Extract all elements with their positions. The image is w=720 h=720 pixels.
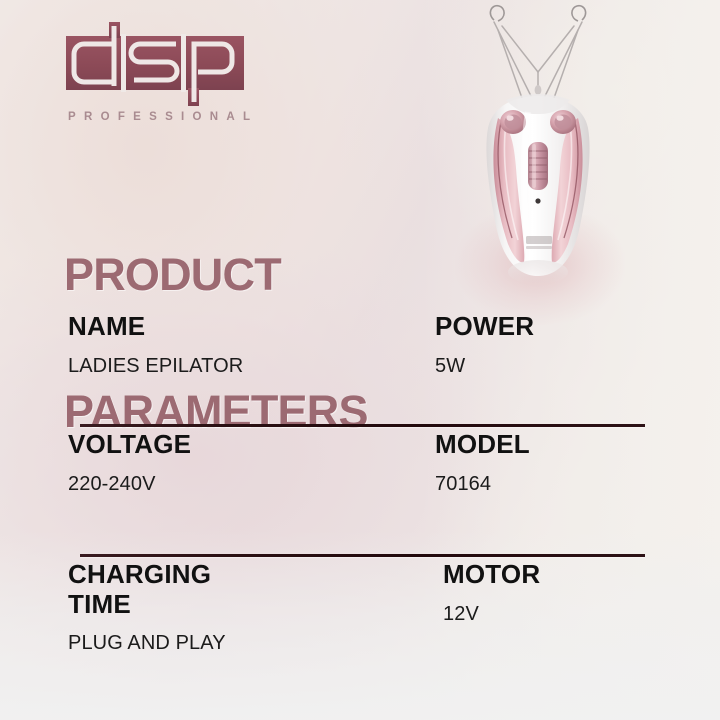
spec-label: VOLTAGE — [68, 430, 191, 460]
spec-cell-charging-time: CHARGING TIME PLUG AND PLAY — [68, 560, 226, 655]
spec-cell-motor: MOTOR 12V — [443, 560, 540, 626]
spec-value: 12V — [443, 603, 540, 626]
spec-cell-name: NAME LADIES EPILATOR — [68, 312, 243, 378]
table-row: VOLTAGE 220-240V MODEL 70164 — [0, 430, 720, 560]
row-divider — [80, 424, 645, 427]
spec-value: 5W — [435, 355, 534, 378]
spec-label: MODEL — [435, 430, 530, 460]
spec-cell-power: POWER 5W — [435, 312, 534, 378]
spec-table: NAME LADIES EPILATOR POWER 5W VOLTAGE 22… — [0, 312, 720, 710]
brand-logo: PROFESSIONAL — [62, 22, 262, 123]
spec-value: 70164 — [435, 473, 530, 496]
spec-label: POWER — [435, 312, 534, 342]
table-row: CHARGING TIME PLUG AND PLAY MOTOR 12V — [0, 560, 720, 710]
spec-label: CHARGING TIME — [68, 560, 226, 619]
spec-label: NAME — [68, 312, 243, 342]
product-image-ladies-epilator — [468, 0, 608, 300]
row-divider — [80, 554, 645, 557]
spec-label: MOTOR — [443, 560, 540, 590]
dsp-logo-icon — [62, 22, 252, 106]
product-parameters-page: PROFESSIONAL PRODUCT PARAMETERS — [0, 0, 720, 720]
brand-tagline: PROFESSIONAL — [68, 111, 262, 123]
spec-value: PLUG AND PLAY — [68, 632, 226, 655]
spec-value: LADIES EPILATOR — [68, 355, 243, 378]
table-row: NAME LADIES EPILATOR POWER 5W — [0, 312, 720, 430]
spec-cell-model: MODEL 70164 — [435, 430, 530, 496]
spec-value: 220-240V — [68, 473, 191, 496]
spec-cell-voltage: VOLTAGE 220-240V — [68, 430, 191, 496]
page-title-line-1: PRODUCT — [64, 252, 368, 298]
